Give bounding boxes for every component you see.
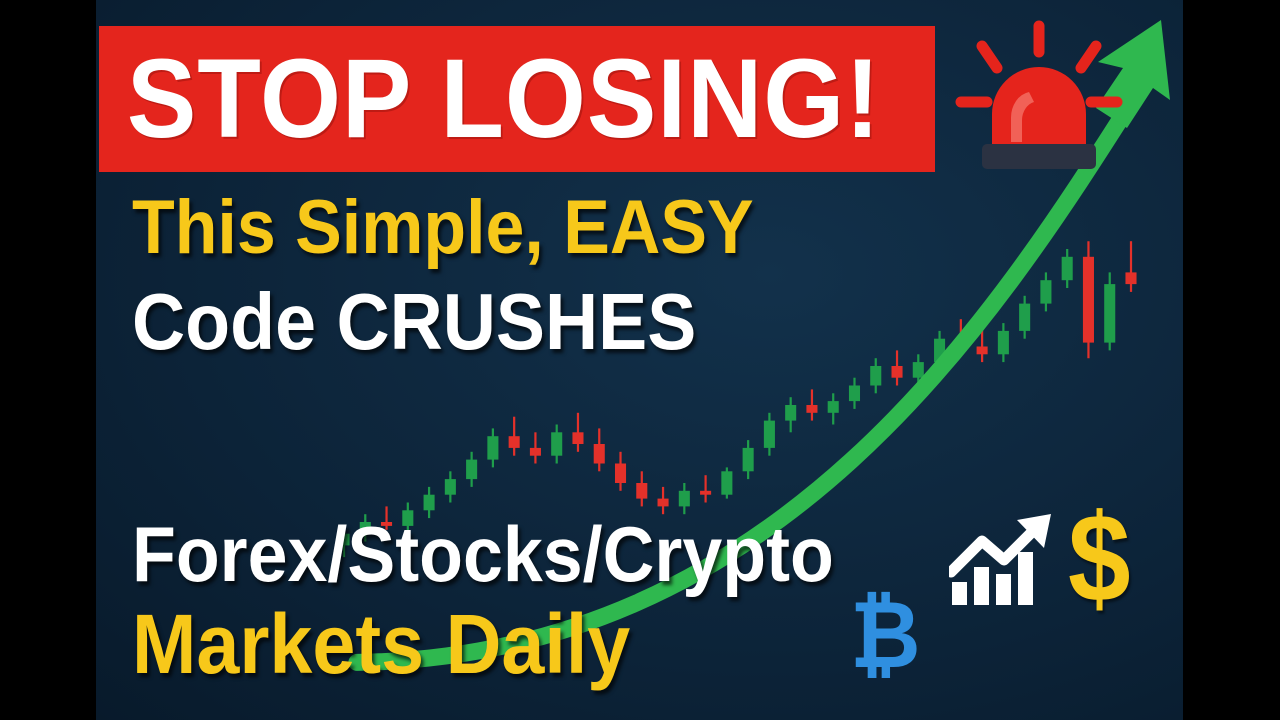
siren-dome [992, 67, 1086, 148]
bitcoin-icon: ₿ [850, 588, 920, 682]
candle-body [913, 362, 924, 378]
bar-chart-up-icon [949, 510, 1054, 605]
candle-body [551, 432, 562, 455]
candle-body [509, 436, 520, 448]
letterbox-bar-left [0, 0, 96, 720]
police-siren-icon [951, 18, 1126, 178]
candle-body [1019, 304, 1030, 331]
candle-body [615, 464, 626, 484]
candle-body [1062, 257, 1073, 280]
candle-body [594, 444, 605, 464]
candle-body [977, 347, 988, 355]
candle-body [572, 432, 583, 444]
headline-line-2: Code CRUSHES [132, 282, 696, 362]
candle-body [679, 491, 690, 507]
candle-body [870, 366, 881, 386]
candle-body [828, 401, 839, 413]
headline-line-4: Markets Daily [132, 602, 630, 686]
candle-body [891, 366, 902, 378]
dollar-sign-icon: $ [1068, 496, 1131, 621]
candle-body [700, 491, 711, 495]
headline-line-1: This Simple, EASY [132, 190, 754, 266]
candle-body [785, 405, 796, 421]
candle-body [998, 331, 1009, 354]
candle-body [1104, 284, 1115, 343]
stop-losing-banner: STOP LOSING! [99, 26, 935, 172]
candle-body [445, 479, 456, 495]
candle-body [721, 471, 732, 494]
candle-body [424, 495, 435, 511]
candle-body [636, 483, 647, 499]
content-panel: STOP LOSING! This Simple, EASY Code CRUS… [96, 0, 1183, 720]
candle-body [1083, 257, 1094, 343]
candle-body [806, 405, 817, 413]
candle-body [530, 448, 541, 456]
thumbnail-canvas: STOP LOSING! This Simple, EASY Code CRUS… [0, 0, 1280, 720]
candle-body [1125, 272, 1136, 284]
candle-body [849, 386, 860, 402]
candle-body [743, 448, 754, 471]
candle-body [658, 499, 669, 507]
candle-body [466, 460, 477, 480]
banner-text: STOP LOSING! [99, 43, 881, 155]
siren-base [982, 144, 1096, 169]
candle-body [764, 421, 775, 448]
letterbox-bar-right [1183, 0, 1280, 720]
candle-body [487, 436, 498, 459]
candle-body [1040, 280, 1051, 303]
headline-line-3: Forex/Stocks/Crypto [132, 515, 834, 593]
